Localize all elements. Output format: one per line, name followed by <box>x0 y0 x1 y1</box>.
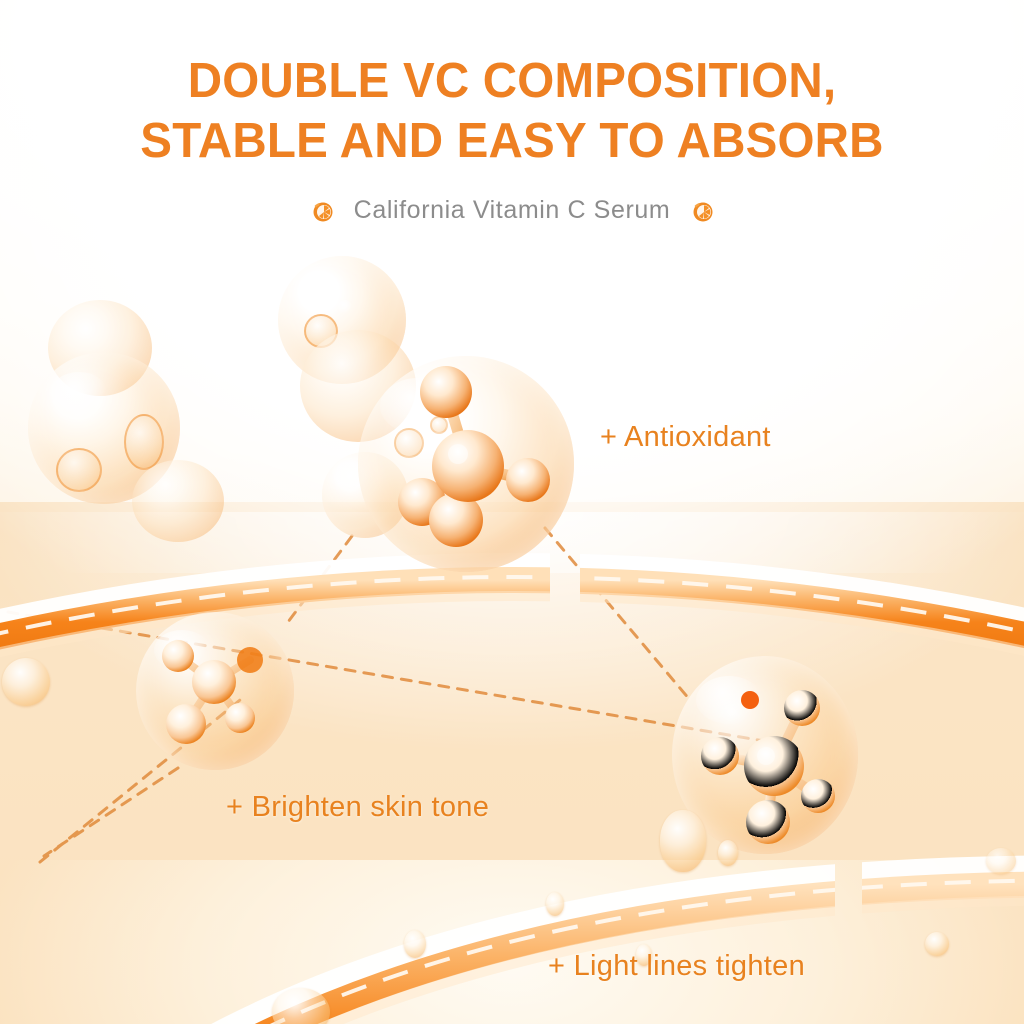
background-bottom-glow <box>0 860 1024 1024</box>
droplet <box>986 848 1016 874</box>
subtitle-row: California Vitamin C Serum <box>0 196 1024 225</box>
orange-slice-icon <box>690 199 714 223</box>
page-title: DOUBLE VC COMPOSITION, STABLE AND EASY T… <box>15 52 1008 172</box>
droplet <box>2 658 50 706</box>
droplet <box>404 930 426 958</box>
page-subtitle: California Vitamin C Serum <box>354 196 671 225</box>
droplet <box>925 932 949 956</box>
benefit-label-lines: + Light lines tighten <box>548 950 805 983</box>
droplet <box>718 840 738 866</box>
droplet <box>660 810 706 872</box>
background-mid-glow <box>0 512 1024 819</box>
droplet <box>546 892 564 916</box>
orange-slice-icon <box>310 199 334 223</box>
benefit-label-brighten: + Brighten skin tone <box>226 791 489 824</box>
poster-canvas: DOUBLE VC COMPOSITION, STABLE AND EASY T… <box>0 0 1024 1024</box>
benefit-label-antioxidant: + Antioxidant <box>600 421 771 454</box>
